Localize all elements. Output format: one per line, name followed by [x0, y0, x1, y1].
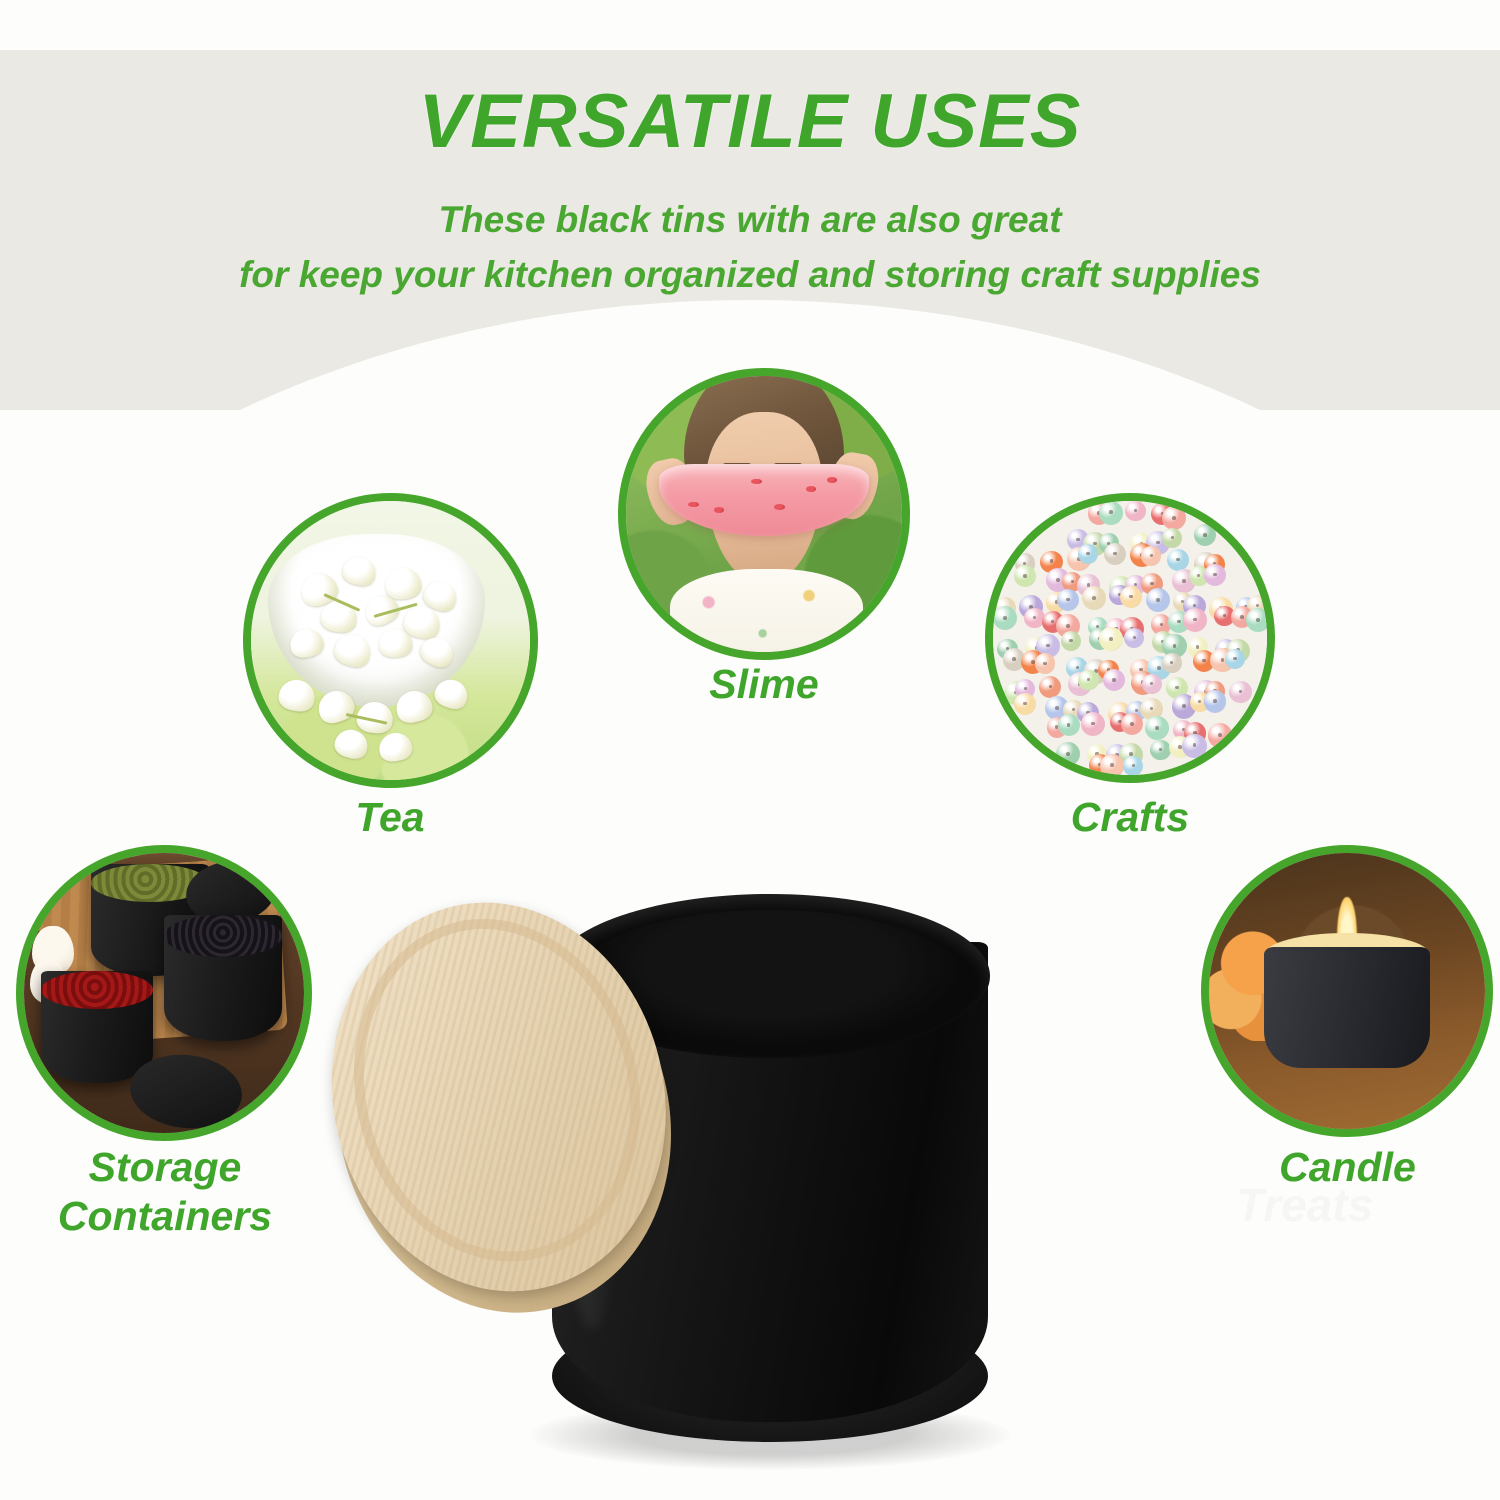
- bead: [1124, 628, 1144, 648]
- tin-red-beans: [41, 971, 153, 1083]
- bead: [1182, 734, 1206, 758]
- bead: [1141, 546, 1161, 566]
- bead: [1058, 714, 1080, 736]
- bead: [1142, 674, 1162, 694]
- feature-label-tea: Tea: [250, 793, 530, 842]
- bead: [1056, 742, 1080, 766]
- candle-black-tin: [1264, 947, 1430, 1068]
- product-hero-image: [330, 880, 1070, 1500]
- bead: [993, 606, 1017, 630]
- bead: [1162, 528, 1182, 548]
- bead: [1123, 756, 1143, 776]
- bead: [1081, 712, 1105, 736]
- bead: [1057, 589, 1079, 611]
- page-title: VERSATILE USES: [0, 78, 1500, 165]
- bead: [1229, 681, 1251, 703]
- beads-photo-background: [993, 501, 1267, 775]
- feature-photo-candle: [1201, 845, 1493, 1137]
- storage-photo-background: [24, 853, 304, 1133]
- feature-label-storage: Storage Containers: [20, 1143, 310, 1241]
- bead: [1162, 653, 1182, 673]
- bead: [1183, 608, 1207, 632]
- feature-photo-tea: [243, 493, 538, 788]
- bead: [1039, 676, 1061, 698]
- feature-photo-storage: [16, 845, 312, 1141]
- bead: [1162, 506, 1186, 530]
- bead: [1204, 564, 1226, 586]
- slime-photo-background: [626, 376, 902, 652]
- bead: [1204, 690, 1226, 712]
- bead: [1145, 716, 1169, 740]
- pink-slime: [659, 464, 869, 536]
- bead: [1146, 588, 1170, 612]
- feature-photo-slime: [618, 368, 910, 660]
- bead: [1035, 653, 1055, 673]
- candle-photo-background: [1209, 853, 1485, 1129]
- subtitle-line-2: for keep your kitchen organized and stor…: [0, 247, 1500, 302]
- bead: [1014, 693, 1036, 715]
- bead: [1078, 544, 1098, 564]
- bead: [1061, 631, 1081, 651]
- bead: [1082, 586, 1106, 610]
- bead: [1208, 723, 1232, 747]
- subtitle-line-1: These black tins with are also great: [0, 192, 1500, 247]
- bead: [1099, 627, 1123, 651]
- feature-photo-crafts: [985, 493, 1275, 783]
- feature-label-crafts: Crafts: [990, 793, 1270, 842]
- bead: [1014, 565, 1036, 587]
- tea-photo-background: [251, 501, 530, 780]
- bead: [1150, 740, 1170, 760]
- infographic-canvas: VERSATILE USES These black tins with are…: [0, 0, 1500, 1500]
- girl-shirt: [670, 569, 863, 660]
- bead: [1194, 524, 1216, 546]
- brand-watermark: Treats: [1236, 1178, 1500, 1232]
- feature-label-slime: Slime: [624, 660, 904, 709]
- bead: [1103, 669, 1125, 691]
- bead: [1121, 713, 1143, 735]
- tin-black-rice: [164, 915, 282, 1041]
- bead: [1099, 501, 1123, 525]
- bead: [1104, 543, 1126, 565]
- bead: [1078, 670, 1098, 690]
- bead: [1100, 754, 1124, 778]
- bead: [1120, 586, 1142, 608]
- bead: [1167, 549, 1189, 571]
- bead: [1225, 649, 1245, 669]
- bead: [1246, 608, 1270, 632]
- page-subtitle: These black tins with are also great for…: [0, 192, 1500, 302]
- bead: [1125, 501, 1145, 521]
